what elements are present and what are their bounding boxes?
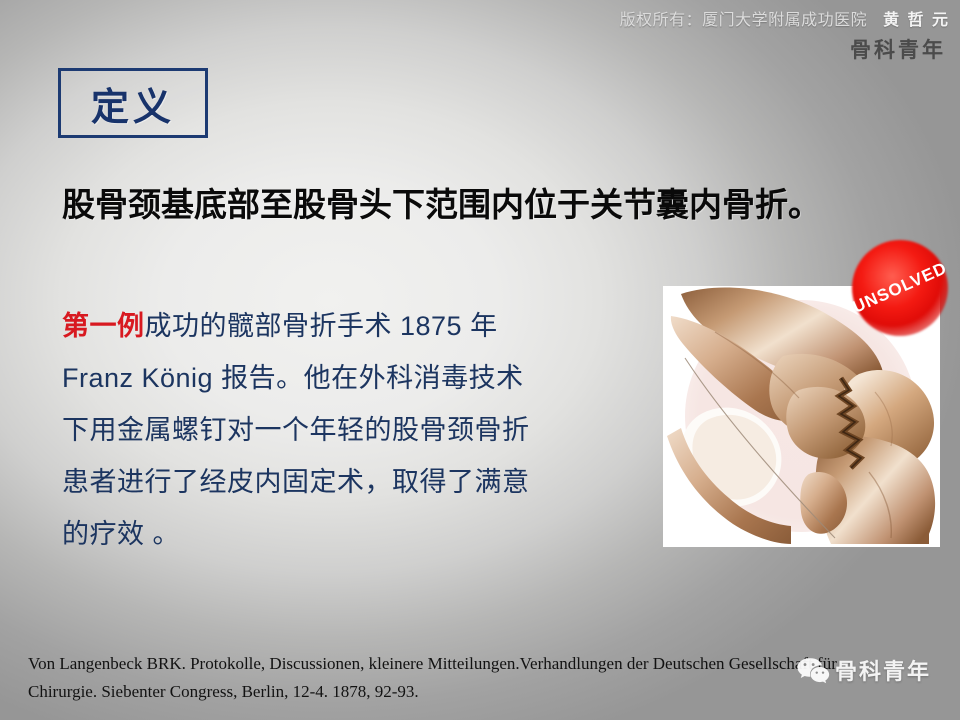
- definition-body: 第一例成功的髋部骨折手术 1875 年 Franz König 报告。他在外科消…: [62, 300, 637, 560]
- body-line-4: 患者进行了经皮内固定术，取得了满意: [62, 456, 637, 508]
- watermark-label: 骨科青年: [835, 654, 931, 686]
- section-title-label: 定义: [91, 76, 175, 131]
- section-title-box: 定义: [58, 68, 208, 138]
- body-line-1-rest: 成功的髋部骨折手术 1875 年: [145, 311, 498, 341]
- definition-headline: 股骨颈基底部至股骨头下范围内位于关节囊内骨折。: [62, 178, 942, 226]
- copyright-notice: 版权所有：厦门大学附属成功医院黄 哲 元: [620, 6, 950, 30]
- body-line-3: 下用金属螺钉对一个年轻的股骨颈骨折: [62, 404, 637, 456]
- wechat-watermark: 骨科青年: [796, 654, 931, 686]
- author-name: 黄 哲 元: [883, 12, 950, 29]
- body-line-2: Franz König 报告。他在外科消毒技术: [62, 352, 637, 404]
- slide-canvas: 版权所有：厦门大学附属成功医院黄 哲 元 骨科青年 定义 股骨颈基底部至股骨头下…: [0, 0, 960, 720]
- brand-logo-text: 骨科青年: [850, 34, 946, 64]
- body-line-5: 的疗效 。: [62, 508, 637, 560]
- highlight-first-case: 第一例: [62, 311, 145, 341]
- copyright-text: 版权所有：厦门大学附属成功医院: [620, 12, 868, 29]
- unsolved-stamp-badge: UNSOLVED: [852, 240, 948, 336]
- body-line-1: 第一例成功的髋部骨折手术 1875 年: [62, 300, 637, 352]
- wechat-icon: [796, 656, 830, 684]
